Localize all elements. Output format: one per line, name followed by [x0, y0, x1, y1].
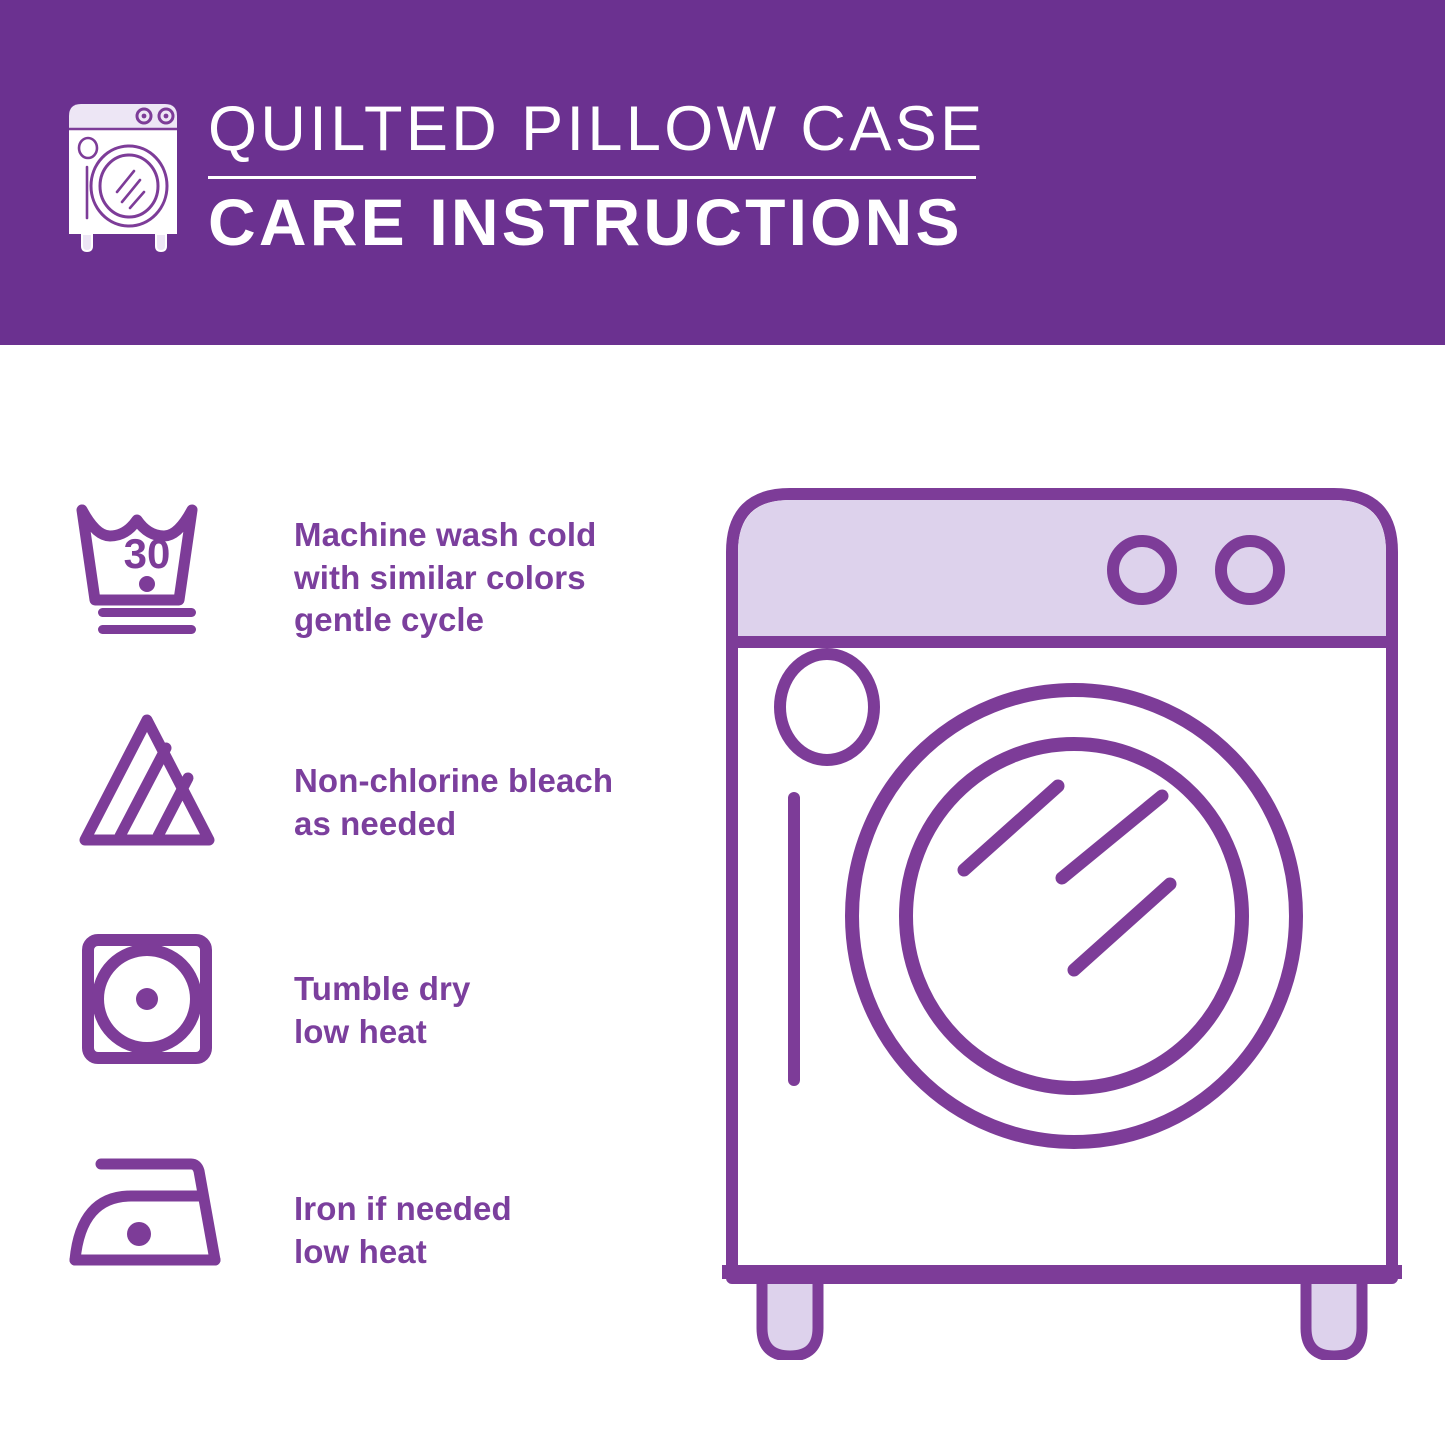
control-knob-right [1221, 541, 1279, 599]
care-row-machine-wash: 30 Machine wash cold with similar colors… [62, 492, 682, 708]
page-subtitle: CARE INSTRUCTIONS [208, 188, 998, 257]
svg-text:30: 30 [124, 530, 171, 577]
iron-low-heat-icon [62, 1140, 232, 1290]
tumble-dry-low-heat-icon [62, 924, 232, 1074]
wash-tub-30-gentle-icon: 30 [62, 492, 232, 642]
care-label-iron: Iron if needed low heat [294, 1140, 512, 1273]
front-load-washing-machine-illustration [722, 480, 1402, 1360]
machine-leg-right [1306, 1272, 1362, 1356]
machine-leg-left [762, 1272, 818, 1356]
title-divider [208, 176, 976, 179]
header-text-block: QUILTED PILLOW CASE CARE INSTRUCTIONS [208, 96, 998, 257]
non-chlorine-bleach-triangle-icon [62, 708, 232, 858]
care-row-iron: Iron if needed low heat [62, 1140, 682, 1356]
header-banner: QUILTED PILLOW CASE CARE INSTRUCTIONS [0, 0, 1445, 345]
control-knob-left [1113, 541, 1171, 599]
care-row-bleach: Non-chlorine bleach as needed [62, 708, 682, 924]
washing-machine-icon [62, 100, 192, 255]
care-instruction-list: 30 Machine wash cold with similar colors… [62, 492, 682, 1356]
care-instructions-page: QUILTED PILLOW CASE CARE INSTRUCTIONS 30 [0, 0, 1445, 1445]
care-label-bleach: Non-chlorine bleach as needed [294, 708, 613, 845]
care-label-machine-wash: Machine wash cold with similar colors ge… [294, 492, 596, 642]
page-title: QUILTED PILLOW CASE [208, 96, 998, 162]
care-row-tumble-dry: Tumble dry low heat [62, 924, 682, 1140]
care-label-tumble-dry: Tumble dry low heat [294, 924, 470, 1053]
